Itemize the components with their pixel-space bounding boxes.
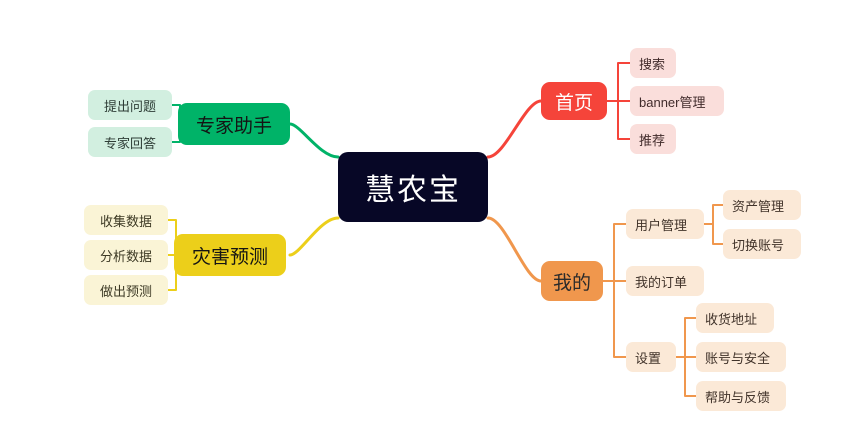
link-home-leaf-0 — [607, 63, 630, 101]
leaf-node-banner-management[interactable]: banner管理 — [630, 86, 724, 116]
branch-node-disaster-prediction[interactable]: 灾害预测 — [174, 234, 286, 276]
leaf-node-shipping-address[interactable]: 收货地址 — [696, 303, 774, 333]
leaf-node-account-security[interactable]: 账号与安全 — [696, 342, 786, 372]
link-settings-leaf-2 — [676, 357, 696, 396]
leaf-node-settings[interactable]: 设置 — [626, 342, 676, 372]
link-settings-leaf-0 — [676, 318, 696, 357]
leaf-node-user-management[interactable]: 用户管理 — [626, 209, 704, 239]
leaf-node-switch-account[interactable]: 切换账号 — [723, 229, 801, 259]
link-mine-child-2 — [603, 281, 626, 357]
mindmap-canvas: 慧农宝 专家助手 提出问题 专家回答 灾害预测 收集数据 分析数据 做出预测 首… — [0, 0, 854, 424]
branch-node-home[interactable]: 首页 — [541, 82, 607, 120]
link-root-disaster-prediction — [290, 218, 338, 255]
leaf-node-search[interactable]: 搜索 — [630, 48, 676, 78]
leaf-node-asset-management[interactable]: 资产管理 — [723, 190, 801, 220]
link-root-home — [488, 101, 541, 157]
root-node[interactable]: 慧农宝 — [338, 152, 488, 222]
leaf-node-expert-answer[interactable]: 专家回答 — [88, 127, 172, 157]
leaf-node-help-feedback[interactable]: 帮助与反馈 — [696, 381, 786, 411]
branch-node-mine[interactable]: 我的 — [541, 261, 603, 301]
link-root-expert-assistant — [290, 124, 338, 157]
link-home-leaf-2 — [607, 101, 630, 139]
link-root-mine — [488, 218, 541, 281]
leaf-node-my-orders[interactable]: 我的订单 — [626, 266, 704, 296]
link-mine-child-0 — [603, 224, 626, 281]
leaf-node-make-prediction[interactable]: 做出预测 — [84, 275, 168, 305]
leaf-node-recommend[interactable]: 推荐 — [630, 124, 676, 154]
leaf-node-collect-data[interactable]: 收集数据 — [84, 205, 168, 235]
leaf-node-ask-question[interactable]: 提出问题 — [88, 90, 172, 120]
leaf-node-analyze-data[interactable]: 分析数据 — [84, 240, 168, 270]
link-user-management-leaf-1 — [704, 224, 723, 244]
link-user-management-leaf-0 — [704, 205, 723, 224]
branch-node-expert-assistant[interactable]: 专家助手 — [178, 103, 290, 145]
